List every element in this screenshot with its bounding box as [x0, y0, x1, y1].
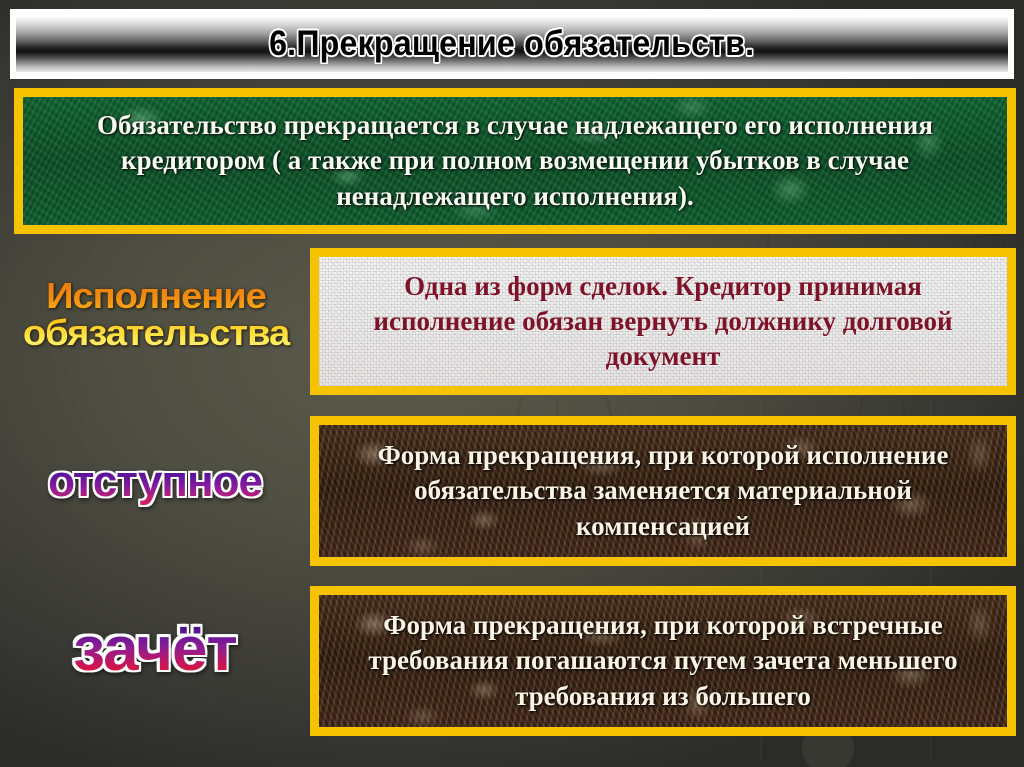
- page-title: 6.Прекращение обязательств.: [269, 24, 754, 64]
- description-box-otstupnoe: Форма прекращения, при которой исполнени…: [310, 416, 1016, 566]
- description-box-ispolnenie: Одна из форм сделок. Кредитор принимая и…: [310, 248, 1016, 395]
- description-surface-ispolnenie: Одна из форм сделок. Кредитор принимая и…: [319, 257, 1007, 386]
- category-label-otstupnoe: отступное: [10, 460, 300, 505]
- statement-banner-surface: Обязательство прекращается в случае надл…: [23, 97, 1007, 225]
- description-text-otstupnoe: Форма прекращения, при которой исполнени…: [333, 438, 993, 543]
- description-surface-zachet: Форма прекращения, при которой встречные…: [319, 595, 1007, 727]
- category-label-zachet: зачёт: [6, 618, 305, 681]
- statement-banner-box: Обязательство прекращается в случае надл…: [14, 88, 1016, 234]
- description-box-zachet: Форма прекращения, при которой встречные…: [310, 586, 1016, 736]
- description-text-zachet: Форма прекращения, при которой встречные…: [333, 608, 993, 713]
- description-text-ispolnenie: Одна из форм сделок. Кредитор принимая и…: [333, 269, 993, 374]
- slide-canvas: 6.Прекращение обязательств. Обязательств…: [0, 0, 1024, 767]
- statement-banner-text: Обязательство прекращается в случае надл…: [37, 108, 993, 213]
- description-surface-otstupnoe: Форма прекращения, при которой исполнени…: [319, 425, 1007, 557]
- category-label-ispolnenie-obyazatelstva: Исполнение обязательства: [0, 278, 313, 351]
- title-metal-plate: 6.Прекращение обязательств.: [16, 16, 1008, 72]
- slide-title-banner: 6.Прекращение обязательств.: [10, 9, 1014, 79]
